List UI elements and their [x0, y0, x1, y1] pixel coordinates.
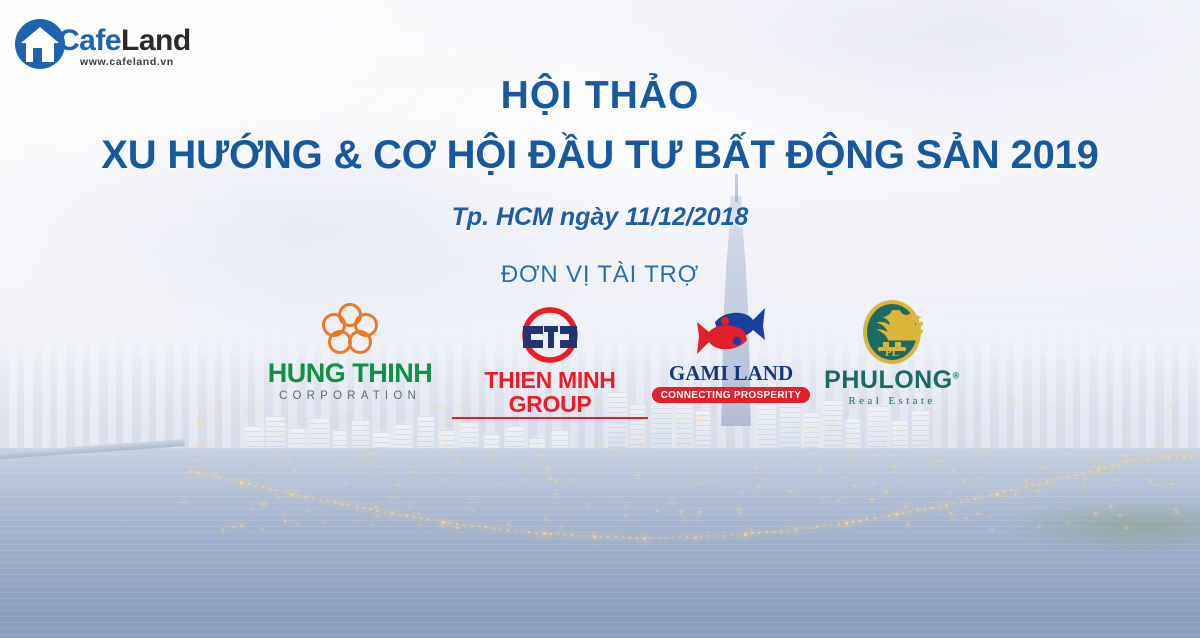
sponsor-thien-minh-group[interactable]: THIEN MINH GROUP	[452, 304, 648, 419]
cafeland-wordmark: CafeLand	[58, 24, 191, 58]
two-fish-yin-yang-icon	[685, 300, 777, 362]
sponsor-name-text: PHULONG	[824, 366, 953, 394]
sponsor-subtitle: CONNECTING PROSPERITY	[652, 387, 811, 403]
sponsor-name: GAMI LAND	[650, 363, 812, 384]
red-ring-ctj-monogram-icon	[513, 304, 587, 366]
headline-line-1: HỘI THẢO	[0, 74, 1200, 118]
sponsors-label: ĐƠN VỊ TÀI TRỢ	[0, 261, 1200, 289]
registered-trademark-icon: ®	[953, 371, 960, 381]
orange-pinwheel-flower-icon	[318, 300, 382, 356]
svg-text:PL: PL	[885, 347, 899, 359]
sponsor-subtitle: Real Estate	[812, 395, 972, 407]
sponsor-gami-land[interactable]: GAMI LAND CONNECTING PROSPERITY	[650, 300, 812, 403]
event-location-date: Tp. HCM ngày 11/12/2018	[0, 203, 1200, 232]
sponsor-name: PHULONG®	[824, 368, 960, 393]
headline-line-2: XU HƯỚNG & CƠ HỘI ĐẦU TƯ BẤT ĐỘNG SẢN 20…	[0, 133, 1200, 178]
sponsor-hung-thinh[interactable]: HUNG THINH CORPORATION	[250, 300, 450, 402]
sponsor-phu-long[interactable]: PL PHULONG® Real Estate	[812, 298, 972, 407]
sponsor-name: HUNG THINH	[250, 360, 450, 387]
sponsor-subtitle: CORPORATION	[250, 390, 450, 402]
logo-website-url: www.cafeland.vn	[80, 56, 174, 68]
cafeland-logo[interactable]: CafeLand www.cafeland.vn	[14, 18, 214, 74]
sponsor-logo-row: HUNG THINH CORPORATION THIEN MINH GROU	[240, 300, 960, 405]
logo-cafe-text: Cafe	[58, 24, 121, 57]
event-banner: CafeLand www.cafeland.vn HỘI THẢO XU HƯỚ…	[0, 0, 1200, 638]
logo-land-text: Land	[121, 24, 191, 57]
gold-dragon-in-teal-circle-icon: PL	[861, 298, 923, 366]
sponsor-name: THIEN MINH GROUP	[452, 368, 648, 419]
banner-content: CafeLand www.cafeland.vn HỘI THẢO XU HƯỚ…	[0, 0, 1200, 638]
